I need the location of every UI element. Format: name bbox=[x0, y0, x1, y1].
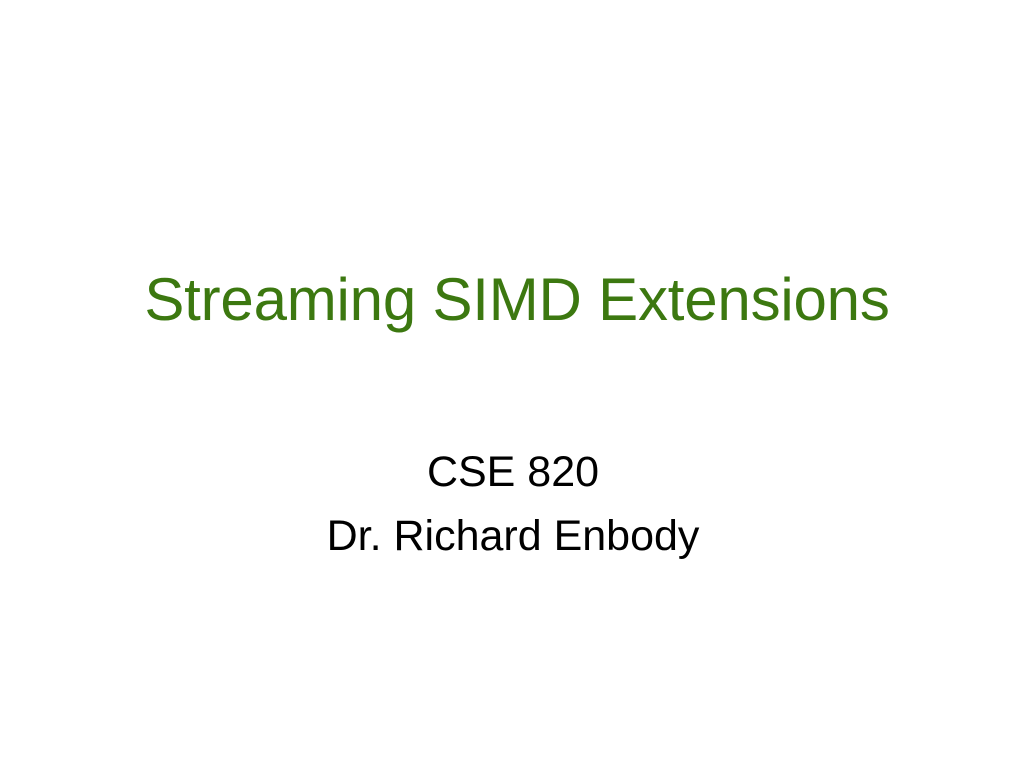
title-placeholder[interactable]: Streaming SIMD Extensions bbox=[77, 245, 957, 355]
title-slide: Streaming SIMD Extensions CSE 820 Dr. Ri… bbox=[0, 0, 1024, 768]
subtitle-placeholder[interactable]: CSE 820 Dr. Richard Enbody bbox=[102, 440, 924, 590]
page-title: Streaming SIMD Extensions bbox=[144, 268, 889, 332]
subtitle-line-presenter: Dr. Richard Enbody bbox=[102, 504, 924, 568]
subtitle-line-course: CSE 820 bbox=[102, 440, 924, 504]
